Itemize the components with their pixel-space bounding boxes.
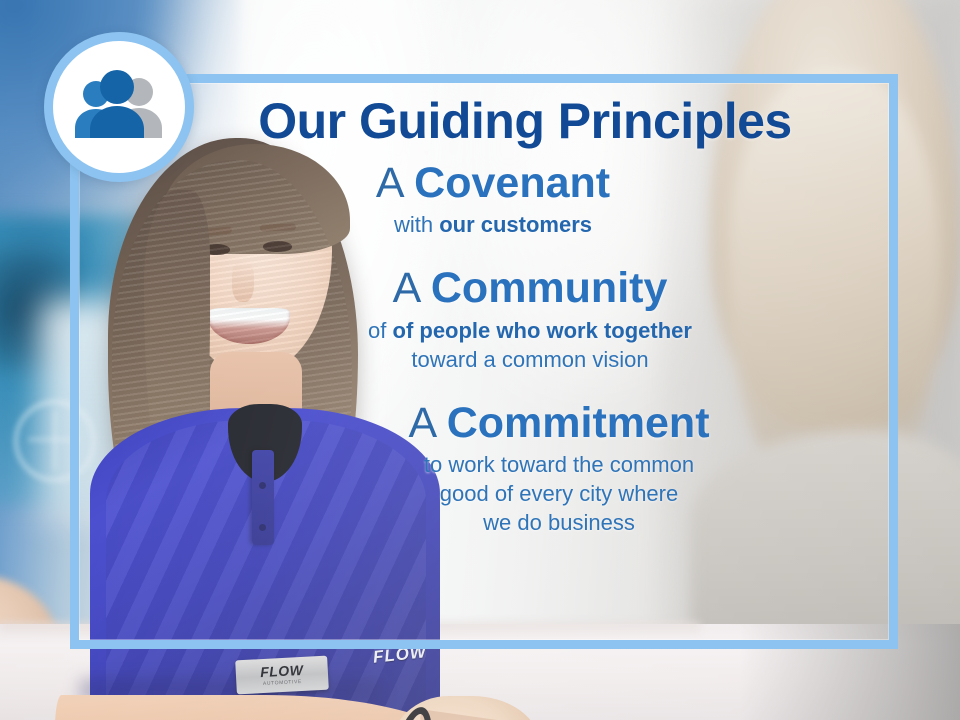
content-area: Our Guiding Principles A Covenant with o… xyxy=(70,74,898,649)
people-group-icon xyxy=(67,70,171,144)
principle-commitment-lead: A xyxy=(408,399,446,447)
principle-community-lead: A xyxy=(393,264,431,312)
principle-commitment-sub-line-2: good of every city where xyxy=(440,481,678,506)
principle-community-sub-line-1: of of people who work together xyxy=(368,318,692,343)
principle-commitment-subtext: to work toward the common good of every … xyxy=(264,450,854,537)
principle-covenant-keyword: Covenant xyxy=(414,159,610,207)
employee-name-badge-brand: FLOW xyxy=(260,663,304,679)
principle-covenant-heading: A Covenant xyxy=(132,160,854,206)
principles-badge xyxy=(44,32,194,182)
principle-community-heading: A Community xyxy=(206,265,854,311)
guiding-principles-graphic: FLOW FLOW AUTOMOTIVE Our Guiding Princip… xyxy=(0,0,960,720)
principle-community: A Community of of people who work togeth… xyxy=(114,265,854,374)
principle-covenant-sub-regular: with xyxy=(394,212,439,237)
principle-covenant-subtext: with our customers xyxy=(132,210,854,239)
principle-covenant-sub-bold: our customers xyxy=(439,212,592,237)
principle-commitment-keyword: Commitment xyxy=(447,399,710,447)
principle-community-subtext: of of people who work together toward a … xyxy=(206,316,854,374)
principle-community-sub-line-2: toward a common vision xyxy=(411,347,648,372)
principle-community-keyword: Community xyxy=(431,264,668,312)
principle-covenant: A Covenant with our customers xyxy=(114,160,854,239)
page-title: Our Guiding Principles xyxy=(114,96,854,146)
principle-commitment-sub-line-3: we do business xyxy=(483,510,635,535)
employee-name-badge-subtext: AUTOMOTIVE xyxy=(263,679,302,687)
principle-commitment: A Commitment to work toward the common g… xyxy=(114,400,854,538)
principle-covenant-lead: A xyxy=(376,159,414,207)
principle-commitment-heading: A Commitment xyxy=(264,400,854,446)
principle-commitment-sub-line-1: to work toward the common xyxy=(424,452,694,477)
employee-name-badge: FLOW AUTOMOTIVE xyxy=(235,656,329,695)
principle-community-sub-bold: of people who work together xyxy=(393,318,692,343)
